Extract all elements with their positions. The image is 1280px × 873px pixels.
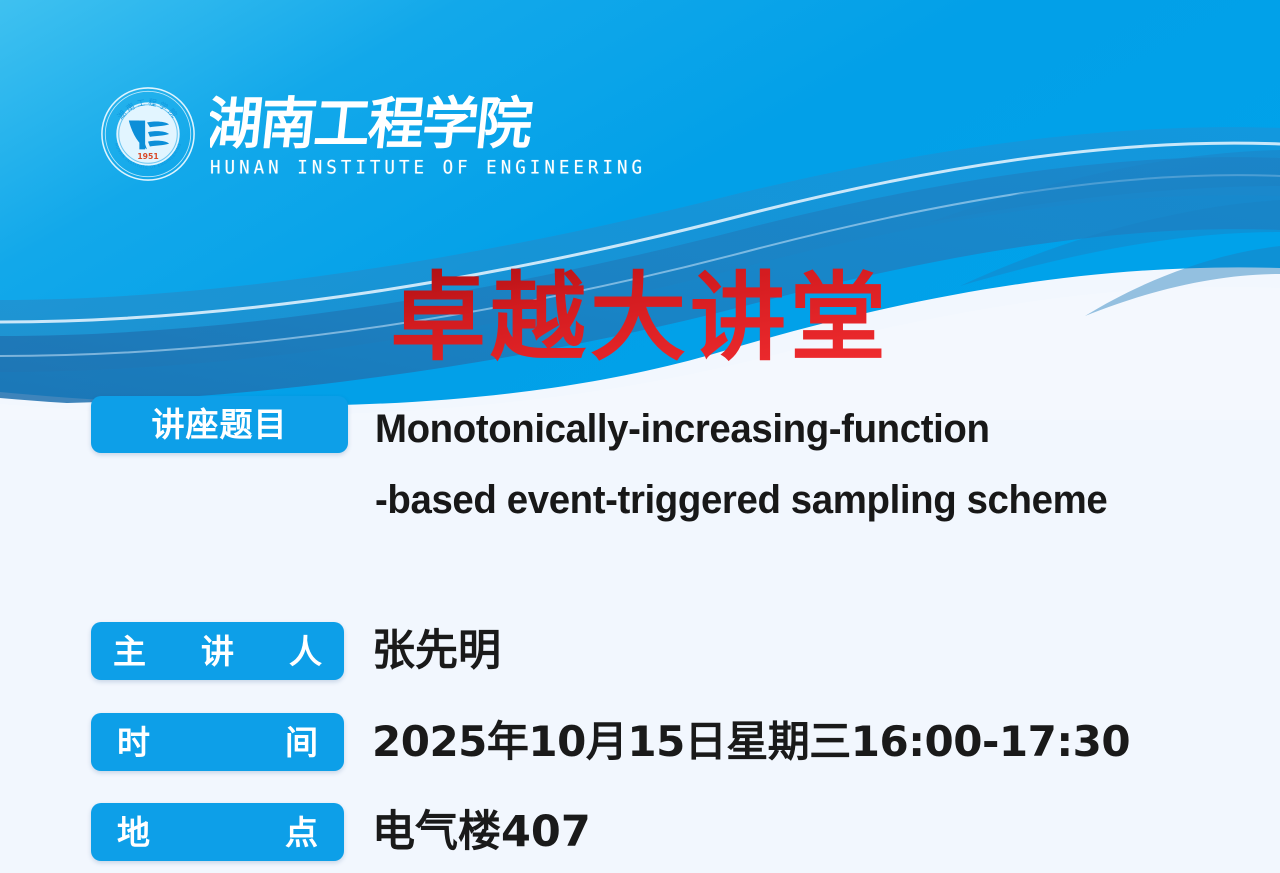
institution-wordmark: 湖南工程学院 HUNAN INSTITUTE OF ENGINEERING <box>210 91 646 178</box>
institution-name-cn: 湖南工程学院 <box>210 91 560 157</box>
value-time: 2025年10月15日星期三16:00-17:30 <box>372 713 1130 771</box>
detail-row-place: 地 点 电气楼407 <box>91 803 1280 861</box>
label-speaker-char-3: 人 <box>289 635 322 668</box>
label-time-chars: 时 间 <box>91 726 344 759</box>
lecture-details: 讲座题目 Monotonically-increasing-function -… <box>0 396 1280 861</box>
detail-row-time: 时 间 2025年10月15日星期三16:00-17:30 <box>91 713 1280 771</box>
page-title-text: 卓越大讲堂 <box>390 268 890 372</box>
label-speaker-char-2: 讲 <box>201 635 234 668</box>
label-time-char-1: 时 <box>117 726 150 759</box>
institution-name-cn-text: 湖南工程学院 <box>210 92 536 157</box>
institution-logo: 1951 湖南工程学院 HUNAN INSTITUTE OF ENGINEERI… <box>100 78 580 190</box>
label-time: 时 间 <box>91 713 344 771</box>
label-speaker-char-1: 主 <box>113 635 146 668</box>
institution-name-en: HUNAN INSTITUTE OF ENGINEERING <box>210 157 646 179</box>
detail-row-topic: 讲座题目 Monotonically-increasing-function -… <box>91 396 1280 536</box>
label-place-char-2: 点 <box>285 816 318 849</box>
page-title-graphic: 卓越大讲堂 <box>370 268 910 372</box>
topic-line-1: Monotonically-increasing-function <box>375 394 1107 465</box>
label-place-char-1: 地 <box>117 816 150 849</box>
label-place-chars: 地 点 <box>91 816 344 849</box>
label-place: 地 点 <box>91 803 344 861</box>
university-emblem-icon: 1951 湖南工程学院 HUNAN INSTITUTE OF ENGINEERI… <box>100 86 196 182</box>
svg-text:1951: 1951 <box>137 152 158 161</box>
label-topic: 讲座题目 <box>91 396 348 453</box>
label-time-char-2: 间 <box>285 726 318 759</box>
label-speaker: 主 讲 人 <box>91 622 344 680</box>
page-title: 卓越大讲堂 <box>0 268 1280 378</box>
value-topic: Monotonically-increasing-function -based… <box>375 394 1138 536</box>
lecture-poster: 1951 湖南工程学院 HUNAN INSTITUTE OF ENGINEERI… <box>0 0 1280 873</box>
value-place: 电气楼407 <box>372 803 591 861</box>
topic-line-2: -based event-triggered sampling scheme <box>375 465 1107 536</box>
detail-row-speaker: 主 讲 人 张先明 <box>91 622 1280 680</box>
label-speaker-chars: 主 讲 人 <box>91 635 344 668</box>
value-speaker: 张先明 <box>372 622 501 680</box>
